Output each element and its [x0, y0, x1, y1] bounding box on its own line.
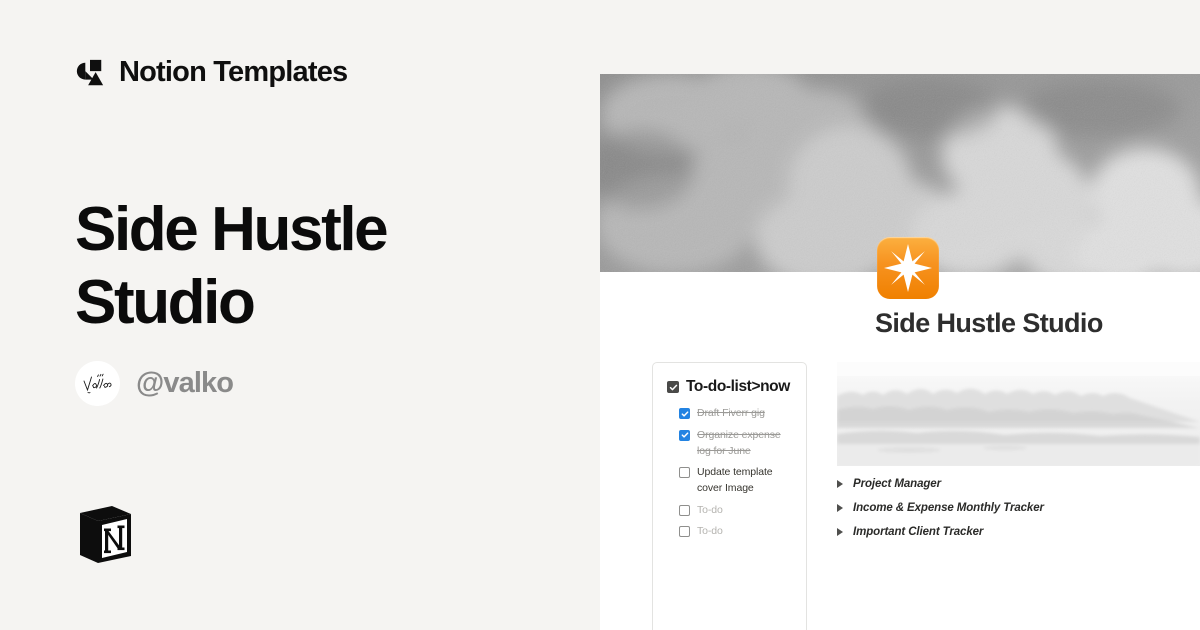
todo-card[interactable]: To-do-list>now Draft Fiverr gig Organize…	[652, 362, 807, 630]
preview-page-title: Side Hustle Studio	[875, 308, 1103, 339]
todo-item[interactable]: To-do	[679, 502, 794, 518]
chevron-right-icon[interactable]	[837, 504, 843, 512]
toggle-item-label: Important Client Tracker	[853, 526, 983, 538]
toggle-item-label: Income & Expense Monthly Tracker	[853, 502, 1044, 514]
chevron-right-icon[interactable]	[837, 480, 843, 488]
toggle-list: Project Manager Income & Expense Monthly…	[837, 472, 1200, 544]
todo-item-label: Update template cover Image	[697, 464, 794, 497]
author[interactable]: @valko	[75, 361, 233, 406]
checkbox-checked-icon[interactable]	[679, 430, 690, 441]
inner-landscape-image	[837, 362, 1200, 466]
todo-item[interactable]: Update template cover Image	[679, 464, 794, 497]
todo-item-label: Draft Fiverr gig	[697, 405, 765, 421]
og-card: Notion Templates Side Hustle Studio	[0, 0, 1200, 630]
eight-pointed-star-icon	[877, 237, 939, 299]
toggle-item[interactable]: Project Manager	[837, 472, 1200, 496]
checkbox-unchecked-icon[interactable]	[679, 467, 690, 478]
checkbox-unchecked-icon[interactable]	[679, 526, 690, 537]
todo-item[interactable]: Draft Fiverr gig	[679, 405, 794, 421]
toggle-item[interactable]: Income & Expense Monthly Tracker	[837, 496, 1200, 520]
checkbox-unchecked-icon[interactable]	[679, 505, 690, 516]
todo-card-title: To-do-list>now	[686, 377, 790, 396]
page-title: Side Hustle Studio	[75, 193, 495, 339]
todo-item[interactable]: Organize expense log for June	[679, 427, 794, 460]
toggle-item[interactable]: Important Client Tracker	[837, 520, 1200, 544]
template-preview-panel[interactable]: Side Hustle Studio To-do-list>now Draft …	[600, 74, 1200, 630]
checkbox-checked-icon[interactable]	[667, 381, 679, 393]
author-handle: @valko	[136, 367, 233, 400]
avatar	[75, 361, 120, 406]
brand-title: Notion Templates	[119, 56, 347, 89]
chevron-right-icon[interactable]	[837, 528, 843, 536]
shapes-logo-icon	[75, 58, 105, 88]
todo-item-label: To-do	[697, 502, 723, 518]
notion-cube-logo	[76, 503, 134, 565]
toggle-item-label: Project Manager	[853, 478, 941, 490]
brand[interactable]: Notion Templates	[75, 56, 347, 89]
todo-item[interactable]: To-do	[679, 523, 794, 539]
todo-item-label: To-do	[697, 523, 723, 539]
todo-item-label: Organize expense log for June	[697, 427, 794, 460]
checkbox-checked-icon[interactable]	[679, 408, 690, 419]
todo-card-header[interactable]: To-do-list>now	[667, 377, 794, 396]
left-panel: Notion Templates Side Hustle Studio	[0, 0, 600, 630]
